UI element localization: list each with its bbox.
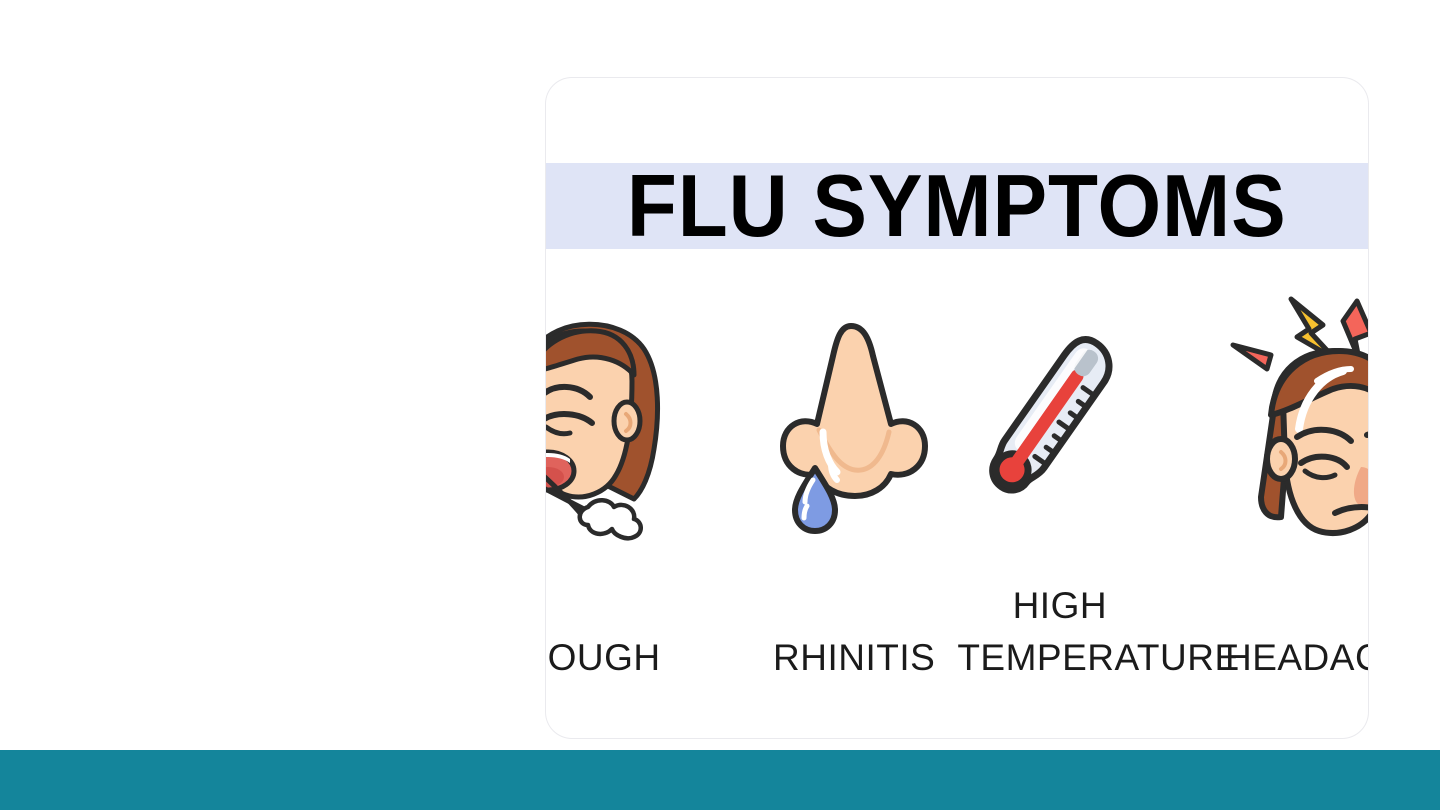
slide-canvas: FLU SYMPTOMS: [0, 0, 1440, 810]
page-title: FLU SYMPTOMS: [627, 163, 1287, 249]
symptom-label-cough: COUGH: [546, 632, 693, 684]
symptoms-card: FLU SYMPTOMS: [546, 78, 1368, 738]
title-band: FLU SYMPTOMS: [546, 163, 1368, 249]
coughing-woman-icon: [546, 274, 693, 574]
runny-nose-icon: [752, 274, 957, 574]
symptom-label-headache: HEADACHE: [1225, 632, 1368, 684]
symptom-label-rhinitis: RHINITIS: [752, 632, 957, 684]
symptom-label-line1: HIGH: [1013, 585, 1108, 626]
symptom-label-high-temperature: HIGHTEMPERATURE: [957, 580, 1162, 684]
headache-woman-icon: [1225, 274, 1368, 574]
footer-accent-bar: [0, 750, 1440, 810]
symptom-item-headache[interactable]: HEADACHE: [1163, 274, 1368, 694]
thermometer-icon: [957, 274, 1162, 574]
symptom-item-cough[interactable]: COUGH: [546, 274, 751, 694]
symptom-item-rhinitis[interactable]: RHINITIS: [752, 274, 957, 694]
symptom-item-high-temperature[interactable]: HIGHTEMPERATURE: [957, 274, 1162, 694]
symptom-list: COUGH: [546, 274, 1368, 694]
